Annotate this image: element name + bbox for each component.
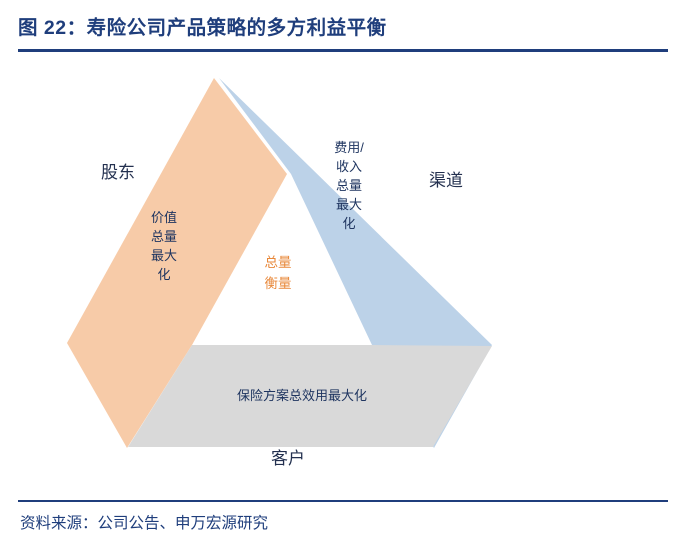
diagram-shapes <box>0 56 686 496</box>
center-measure-text: 总量 衡量 <box>250 252 306 294</box>
source-note: 资料来源：公司公告、申万宏源研究 <box>20 512 268 536</box>
party-label-customer: 客户 <box>262 446 314 471</box>
arm-text-shareholder: 价值 总量 最大 化 <box>143 208 185 284</box>
figure-title-block: 图 22：寿险公司产品策略的多方利益平衡 <box>18 14 668 54</box>
balance-triangle-diagram: 股东 渠道 客户 价值 总量 最大 化 费用/ 收入 总量 最大 化 保险方案总… <box>0 56 686 496</box>
party-label-shareholder: 股东 <box>96 160 140 185</box>
title-divider <box>18 49 668 52</box>
figure-card: 图 22：寿险公司产品策略的多方利益平衡 股东 渠道 客户 价值 总量 最大 化… <box>0 0 686 557</box>
party-label-channel: 渠道 <box>424 168 468 193</box>
arm-text-customer: 保险方案总效用最大化 <box>222 386 382 405</box>
arm-text-channel: 费用/ 收入 总量 最大 化 <box>322 138 376 233</box>
page-title: 图 22：寿险公司产品策略的多方利益平衡 <box>18 14 668 42</box>
footer-divider <box>18 500 668 502</box>
